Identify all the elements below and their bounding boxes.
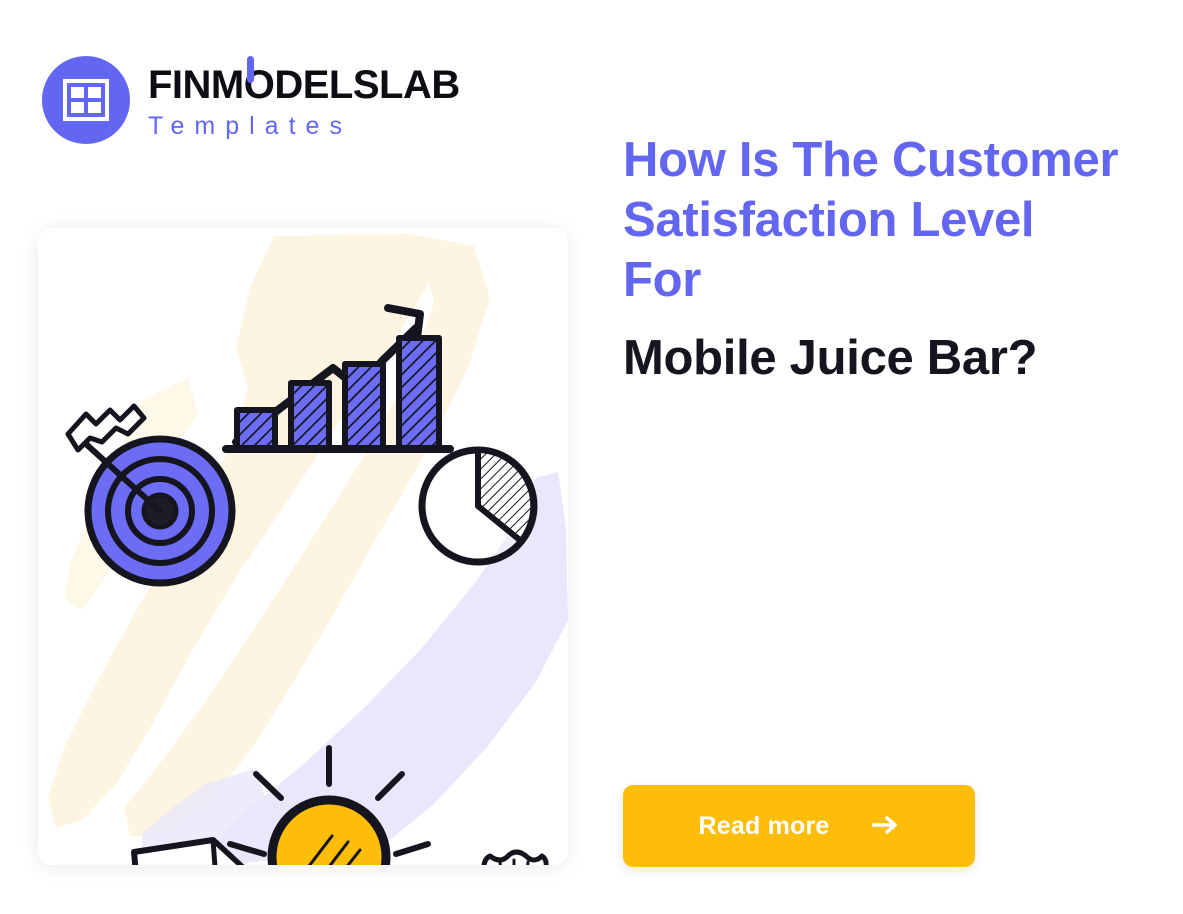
page-subtitle: Mobile Juice Bar? <box>623 330 1123 388</box>
pie-chart-icon <box>422 450 534 562</box>
brand-name: FINMODELSLAB <box>148 65 460 105</box>
grid-cell <box>71 102 84 113</box>
brand-name-text: FINMODELSLAB <box>148 63 460 107</box>
grid-squares-icon <box>42 56 130 144</box>
content-block: How Is The Customer Satisfaction Level F… <box>623 131 1123 388</box>
business-analytics-illustration: $ <box>38 228 568 865</box>
grid-squares-glyph <box>63 79 109 121</box>
brand-logo[interactable]: FINMODELSLAB Templates <box>42 56 460 144</box>
page-title: How Is The Customer Satisfaction Level F… <box>623 131 1123 310</box>
brand-tagline: Templates <box>148 114 460 139</box>
grid-cell <box>88 102 101 113</box>
arrow-right-icon <box>872 816 900 837</box>
brand-text-block: FINMODELSLAB Templates <box>148 61 460 139</box>
illustration-card: $ <box>38 228 568 865</box>
grid-cell <box>71 87 84 98</box>
grid-cell <box>88 87 101 98</box>
read-more-label: Read more <box>698 812 829 841</box>
power-button-icon <box>247 56 254 83</box>
read-more-button[interactable]: Read more <box>623 785 975 867</box>
